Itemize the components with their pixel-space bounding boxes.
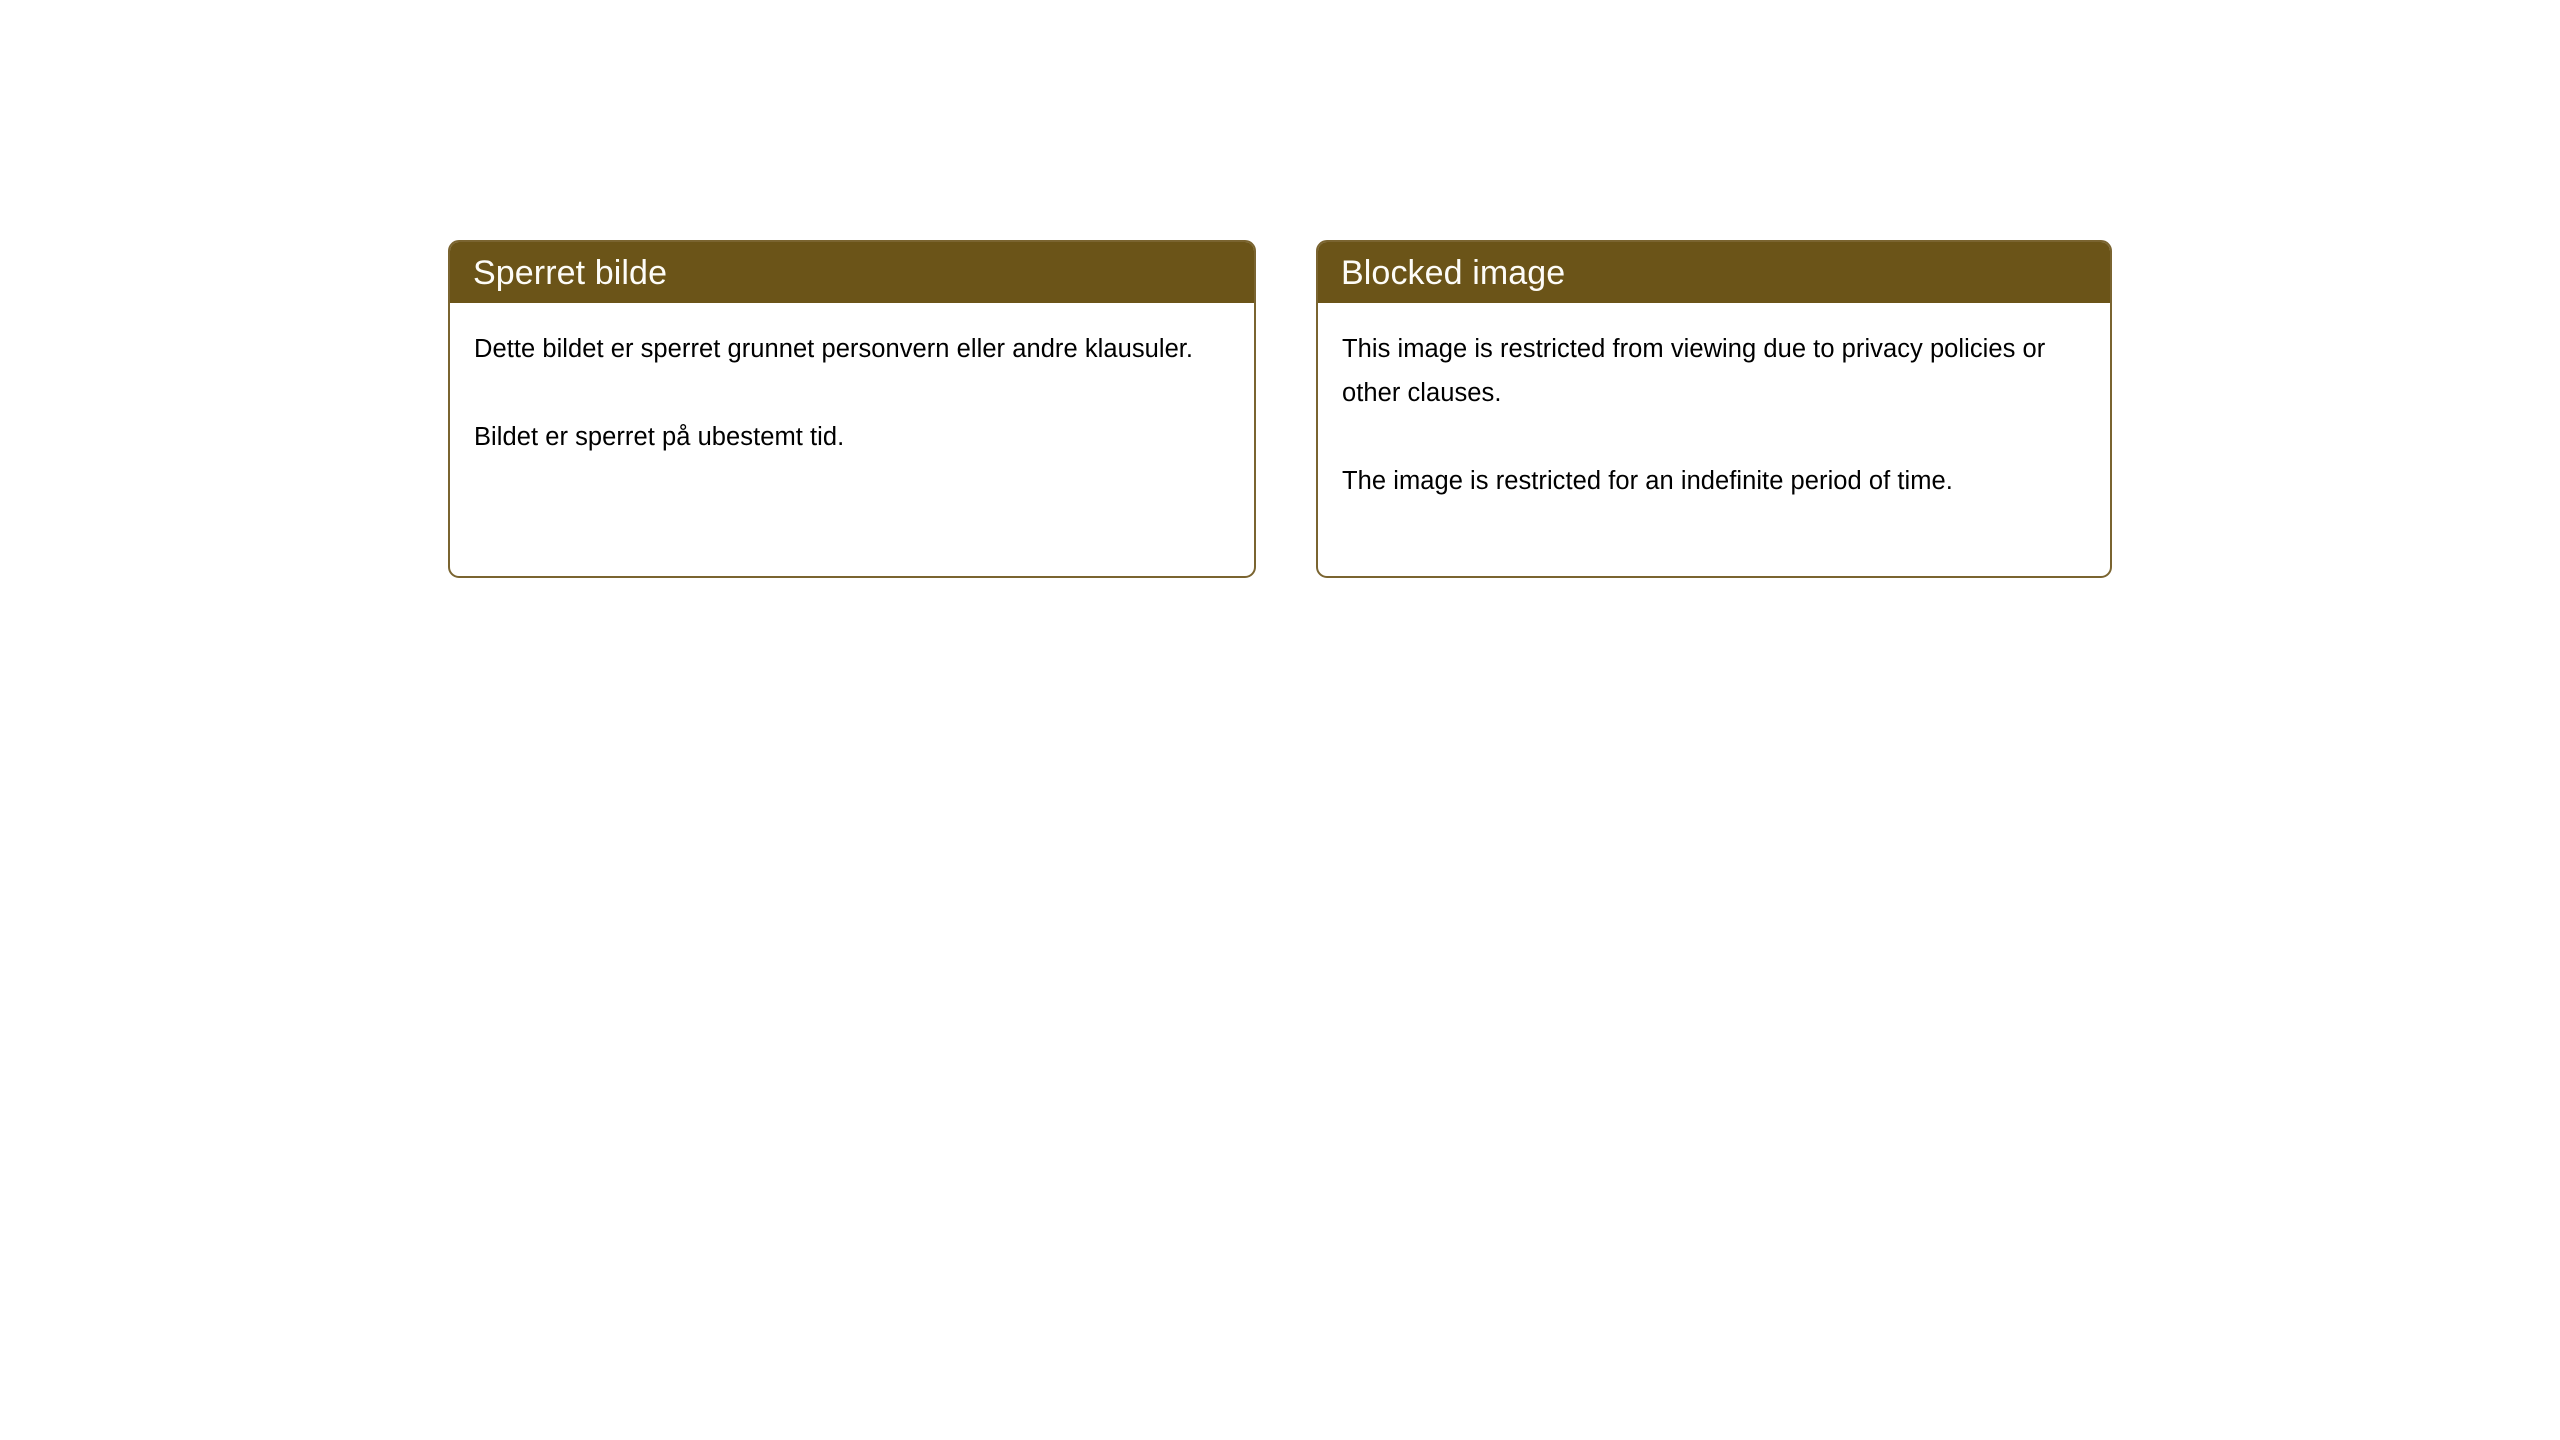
notice-header-no: Sperret bilde	[450, 242, 1254, 303]
notice-title-en: Blocked image	[1341, 256, 1565, 290]
notice-paragraph-duration-en: The image is restricted for an indefinit…	[1342, 459, 2090, 503]
notice-body-no: Dette bildet er sperret grunnet personve…	[450, 303, 1254, 576]
page-canvas: Sperret bilde Dette bildet er sperret gr…	[0, 0, 2560, 1440]
notice-paragraph-reason-no: Dette bildet er sperret grunnet personve…	[474, 327, 1234, 371]
notice-paragraph-duration-no: Bildet er sperret på ubestemt tid.	[474, 415, 1234, 459]
notice-paragraph-reason-en: This image is restricted from viewing du…	[1342, 327, 2090, 415]
notice-title-no: Sperret bilde	[473, 256, 667, 290]
blocked-image-notice-en: Blocked image This image is restricted f…	[1316, 240, 2112, 578]
blocked-image-notice-no: Sperret bilde Dette bildet er sperret gr…	[448, 240, 1256, 578]
notice-body-en: This image is restricted from viewing du…	[1318, 303, 2110, 576]
notice-header-en: Blocked image	[1318, 242, 2110, 303]
